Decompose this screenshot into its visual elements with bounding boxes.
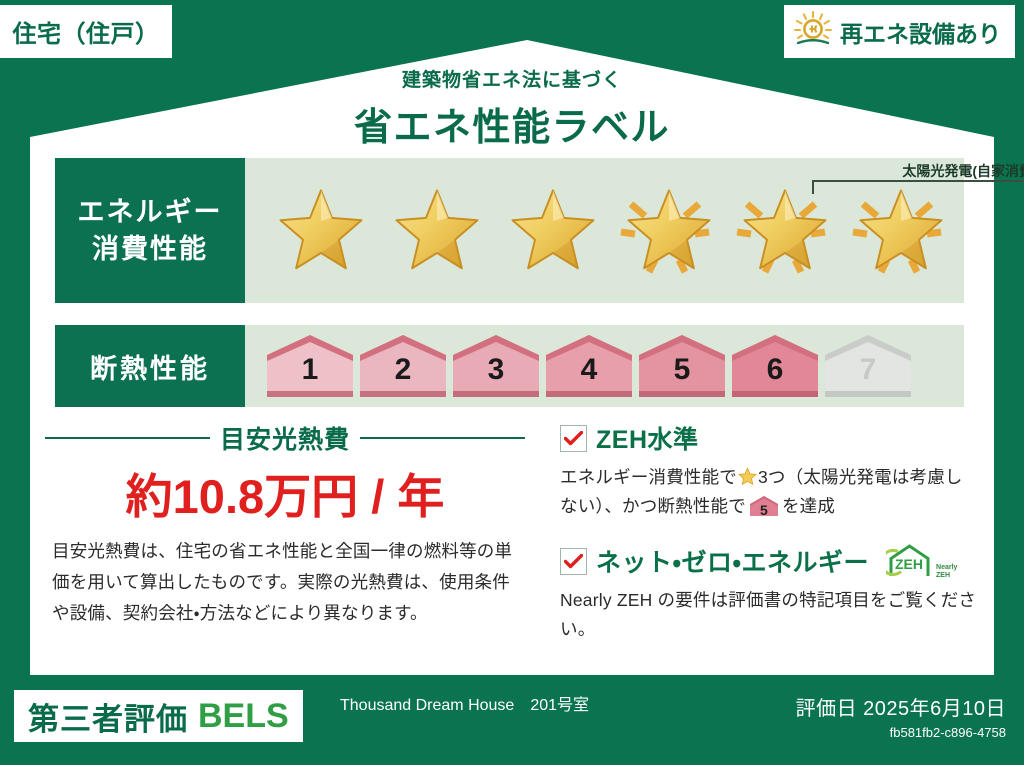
insulation-level-2: 2 xyxy=(358,333,448,399)
zeh-logo-subtitle: Nearly ZEH xyxy=(936,564,957,579)
insulation-level-number: 7 xyxy=(823,353,913,387)
star-rating xyxy=(267,176,955,284)
bels-jp-label: 第三者評価 xyxy=(28,694,188,739)
net-zero-description: Nearly ZEH の要件は評価書の特記項目をご覧ください。 xyxy=(560,586,980,644)
insulation-level-number: 5 xyxy=(637,353,727,387)
star-6 xyxy=(847,176,955,284)
star-5 xyxy=(731,176,839,284)
heading-rule-right xyxy=(360,437,525,439)
evaluation-date: 評価日 2025年6月10日 xyxy=(796,692,1006,721)
bels-badge: 第三者評価 BELS xyxy=(14,690,303,742)
insulation-level-scale: 1234567 xyxy=(265,333,913,399)
star-1 xyxy=(267,176,375,284)
star-2 xyxy=(383,176,491,284)
net-zero-title: ネット・ゼロ・エネルギー xyxy=(596,543,869,579)
svg-text:ZEH: ZEH xyxy=(895,556,923,572)
insulation-level-6: 6 xyxy=(730,333,820,399)
insulation-level-3: 3 xyxy=(451,333,541,399)
net-zero-checkbox[interactable] xyxy=(560,548,587,575)
star-4 xyxy=(615,176,723,284)
insulation-level-number: 4 xyxy=(544,353,634,387)
inline-insulation-level: 5 xyxy=(749,499,779,522)
evaluation-id: fb581fb2-c896-4758 xyxy=(796,725,1006,740)
cost-disclaimer: 目安光熱費は、住宅の省エネ性能と全国一律の燃料等の単価を用いて算出したものです。… xyxy=(52,536,522,629)
cost-heading: 目安光熱費 xyxy=(45,420,525,456)
zeh-standard-description: エネルギー消費性能で3つ（太陽光発電は考慮しない）、かつ断熱性能で5を達成 xyxy=(560,463,980,521)
insulation-performance-row: 断熱性能 1234567 xyxy=(55,325,964,407)
label-subtitle: 建築物省エネ法に基づく xyxy=(30,65,994,92)
cost-heading-label: 目安光熱費 xyxy=(220,420,350,456)
zeh-text-part1: エネルギー消費性能で xyxy=(560,467,737,487)
insulation-level-number: 2 xyxy=(358,353,448,387)
check-icon xyxy=(564,554,583,569)
zeh-standard-title: ZEH水準 xyxy=(596,420,699,456)
inline-star-icon xyxy=(738,466,757,485)
zeh-standard-heading: ZEH水準 xyxy=(560,420,980,456)
insulation-level-number: 1 xyxy=(265,353,355,387)
zeh-section: ZEH水準 エネルギー消費性能で3つ（太陽光発電は考慮しない）、かつ断熱性能で5… xyxy=(560,420,980,644)
zeh-logo: ZEH Nearly ZEH xyxy=(886,543,957,579)
insulation-level-5: 5 xyxy=(637,333,727,399)
star-icon xyxy=(856,185,946,275)
insulation-level-number: 6 xyxy=(730,353,820,387)
star-icon xyxy=(740,185,830,275)
star-3 xyxy=(499,176,607,284)
star-icon xyxy=(508,185,598,275)
star-icon xyxy=(392,185,482,275)
energy-performance-label: エネルギー 消費性能 xyxy=(55,158,245,303)
inline-insulation-badge: 5 xyxy=(749,495,779,517)
insulation-level-number: 3 xyxy=(451,353,541,387)
insulation-performance-label: 断熱性能 xyxy=(55,325,245,407)
bels-en-label: BELS xyxy=(198,697,289,736)
zeh-standard-checkbox[interactable] xyxy=(560,425,587,452)
net-zero-heading: ネット・ゼロ・エネルギー ZEH Nearly ZEH xyxy=(560,543,980,579)
property-name: Thousand Dream House 201号室 xyxy=(340,694,670,717)
label-title-block: 建築物省エネ法に基づく 省エネ性能ラベル xyxy=(30,40,994,151)
insulation-level-area: 1234567 xyxy=(245,325,964,407)
energy-performance-row: エネルギー 消費性能 太陽光発電(自家消費)分 xyxy=(55,158,964,303)
insulation-level-7: 7 xyxy=(823,333,913,399)
check-icon xyxy=(564,431,583,446)
heading-rule-left xyxy=(45,437,210,439)
insulation-level-1: 1 xyxy=(265,333,355,399)
cost-value: 約10.8万円 / 年 xyxy=(45,458,525,527)
label-title: 省エネ性能ラベル xyxy=(30,96,994,151)
zeh-text-part3: を達成 xyxy=(782,496,835,516)
zeh-house-logo-icon: ZEH xyxy=(886,543,934,579)
star-icon xyxy=(276,185,366,275)
star-icon xyxy=(624,185,714,275)
evaluation-info: 評価日 2025年6月10日 fb581fb2-c896-4758 xyxy=(796,692,1006,740)
insulation-level-4: 4 xyxy=(544,333,634,399)
energy-star-area: 太陽光発電(自家消費)分 xyxy=(245,158,964,303)
